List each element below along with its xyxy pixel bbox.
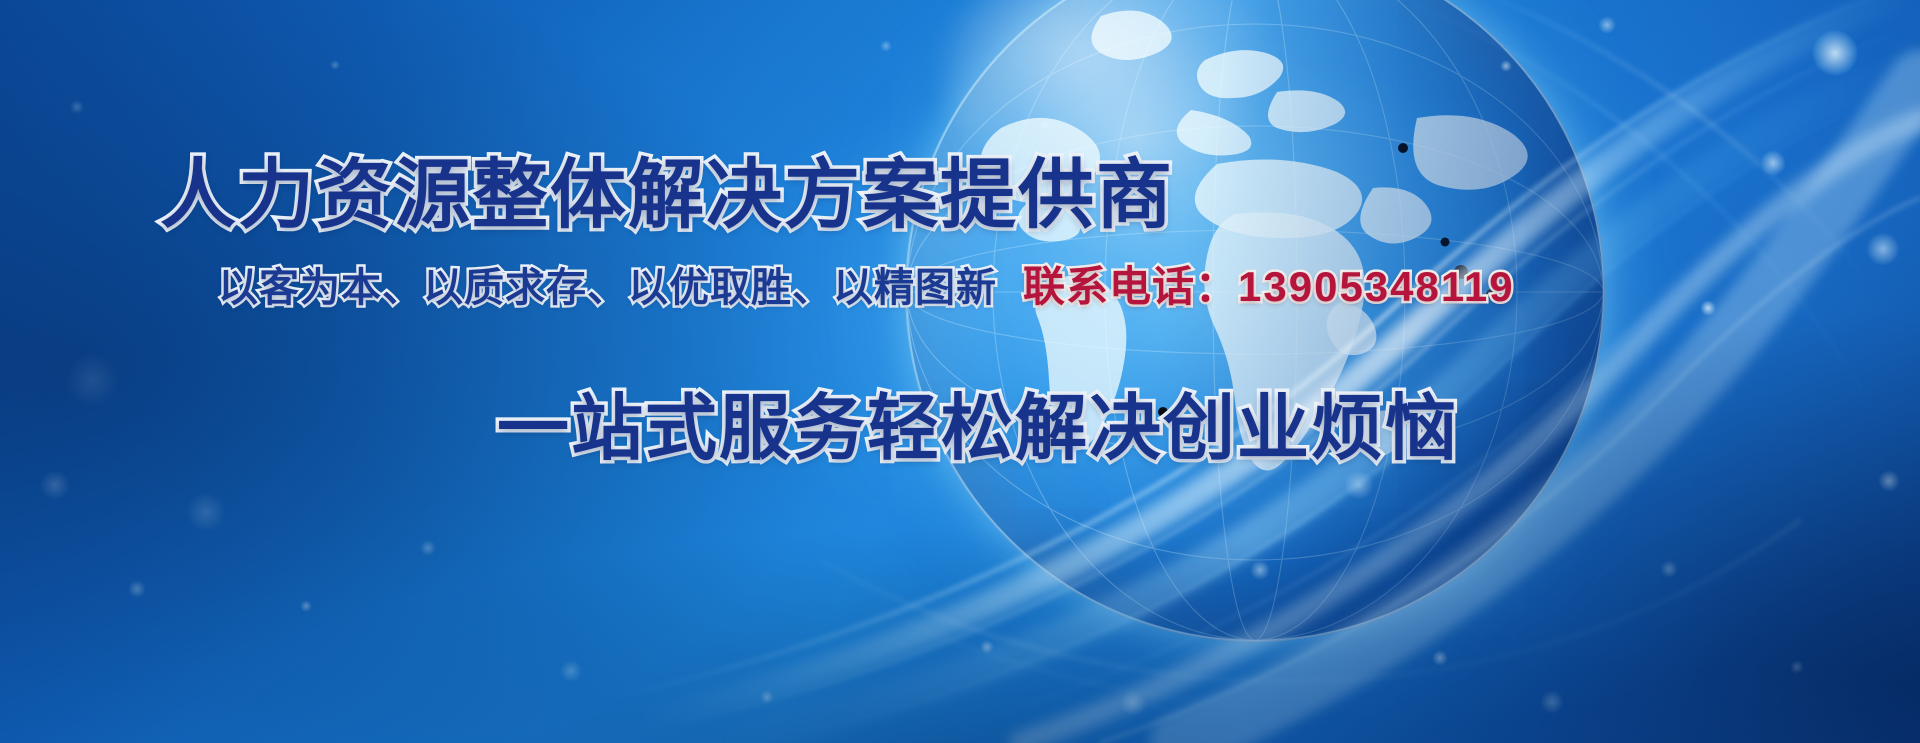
globe-continents-icon (905, 0, 1605, 642)
hero-banner: 人力资源整体解决方案提供商 以客为本、以质求存、以优取胜、以精图新 联系电话：1… (0, 0, 1920, 743)
banner-tagline: 以客为本、以质求存、以优取胜、以精图新 (218, 255, 997, 313)
orbital-light-arcs (0, 0, 1920, 743)
globe-outer-glow (815, 0, 1695, 732)
background-vignette (0, 0, 1920, 743)
banner-subline: 一站式服务轻松解决创业烦恼 (497, 369, 1459, 474)
contact-phone-block: 联系电话：13905348119 (1023, 253, 1515, 314)
banner-headline: 人力资源整体解决方案提供商 (160, 133, 1174, 243)
globe-rim (905, 0, 1605, 642)
contact-label: 联系电话： (1023, 263, 1238, 310)
globe-graticule-icon (905, 0, 1605, 642)
globe-graphic (905, 0, 1605, 642)
globe-sphere (905, 0, 1605, 642)
globe-shadow (905, 0, 1605, 642)
globe-highlight (945, 0, 1275, 202)
contact-phone-number: 13905348119 (1238, 263, 1515, 310)
